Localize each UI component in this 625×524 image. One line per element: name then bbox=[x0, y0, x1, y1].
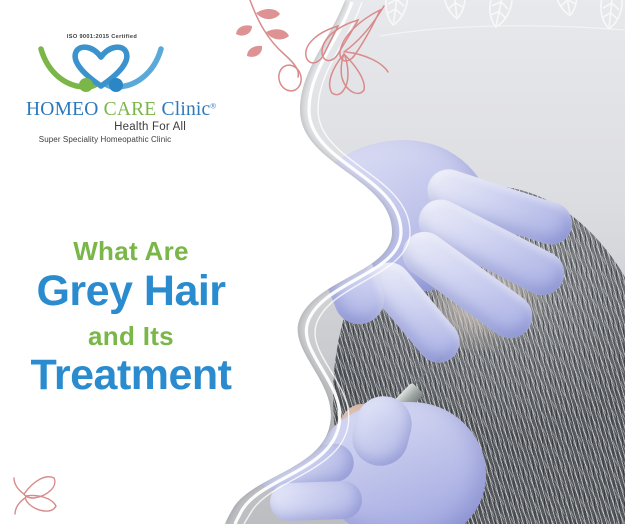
small-flower-line-art bbox=[12, 468, 72, 520]
clinic-logo[interactable]: ISO 9001:2015 Certified HOMEO CARE Clini… bbox=[24, 34, 196, 144]
registered-trademark-icon: ® bbox=[210, 102, 216, 111]
logo-word-homeo-rest: OMEO bbox=[40, 99, 98, 120]
headline-line-4: Treatment bbox=[0, 354, 262, 397]
floral-line-art bbox=[232, 0, 397, 101]
heart-swoosh-logo-icon bbox=[38, 43, 164, 93]
headline-line-2: Grey Hair bbox=[0, 270, 262, 313]
logo-wordmark: HOMEO CARE Clinic® bbox=[26, 100, 196, 120]
logo-word-care-rest: ARE bbox=[117, 99, 157, 120]
logo-word-care-cap: C bbox=[104, 99, 117, 120]
headline-line-1: What Are bbox=[0, 238, 262, 264]
iso-certification-text: ISO 9001:2015 Certified bbox=[42, 34, 162, 40]
logo-word-homeo-cap: H bbox=[26, 99, 40, 120]
logo-tagline-primary: Health For All bbox=[24, 121, 186, 133]
promotional-banner: ISO 9001:2015 Certified HOMEO CARE Clini… bbox=[0, 0, 625, 524]
logo-tagline-secondary: Super Speciality Homeopathic Clinic bbox=[24, 135, 186, 144]
logo-word-clinic: Clinic bbox=[162, 99, 211, 120]
headline-block: What Are Grey Hair and Its Treatment bbox=[0, 238, 262, 397]
headline-line-3: and Its bbox=[0, 323, 262, 349]
